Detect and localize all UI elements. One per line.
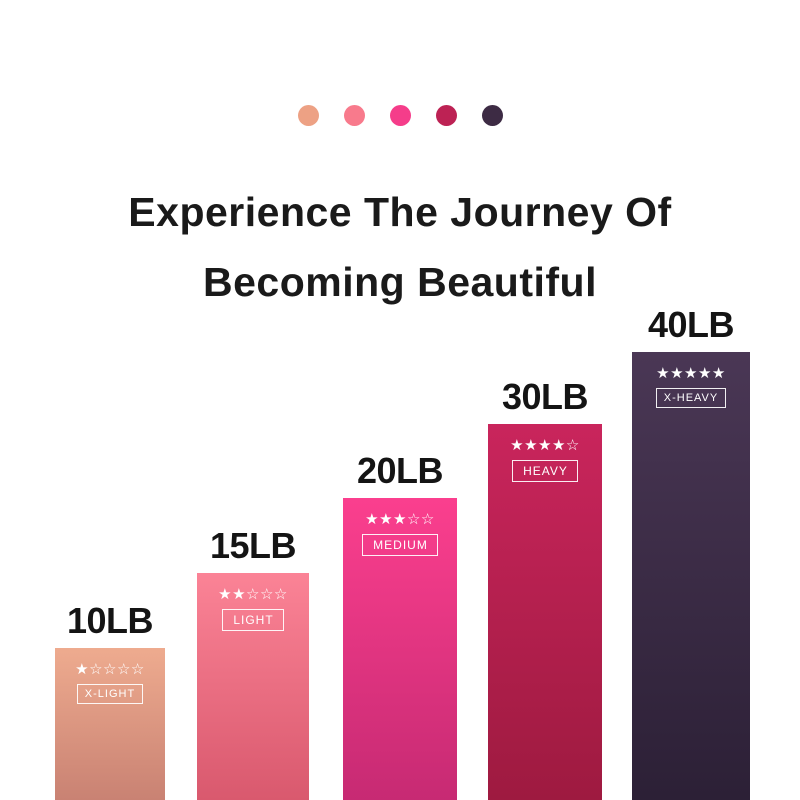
tier-badge: X-LIGHT xyxy=(77,684,143,704)
dot-row xyxy=(0,105,800,126)
bar-value-label: 30LB xyxy=(502,376,588,418)
bar-column-15lb[interactable]: 15LB★★☆☆☆LIGHT xyxy=(197,573,309,800)
headline-line-1: Experience The Journey Of xyxy=(0,177,800,247)
bar-meta: ★★★☆☆MEDIUM xyxy=(343,512,457,556)
bar-body[interactable]: ★★★★☆HEAVY xyxy=(488,424,602,800)
bar-column-30lb[interactable]: 30LB★★★★☆HEAVY xyxy=(488,424,602,800)
star-rating-icon: ★☆☆☆☆ xyxy=(75,662,145,677)
star-rating-icon: ★★☆☆☆ xyxy=(218,587,288,602)
poster-canvas: Experience The Journey Of Becoming Beaut… xyxy=(0,0,800,800)
dot-heavy-icon xyxy=(436,105,457,126)
dot-light-icon xyxy=(344,105,365,126)
bar-meta: ★★★★☆HEAVY xyxy=(488,438,602,482)
dot-x-heavy-icon xyxy=(482,105,503,126)
resistance-bar-chart: 10LB★☆☆☆☆X-LIGHT15LB★★☆☆☆LIGHT20LB★★★☆☆M… xyxy=(0,280,800,800)
bar-body[interactable]: ★★★☆☆MEDIUM xyxy=(343,498,457,800)
star-rating-icon: ★★★★☆ xyxy=(510,438,580,453)
bar-body[interactable]: ★☆☆☆☆X-LIGHT xyxy=(55,648,165,800)
dot-x-light-icon xyxy=(298,105,319,126)
bar-column-10lb[interactable]: 10LB★☆☆☆☆X-LIGHT xyxy=(55,648,165,800)
star-rating-icon: ★★★★★ xyxy=(656,366,726,381)
bar-meta: ★★★★★X-HEAVY xyxy=(632,366,750,408)
tier-badge: HEAVY xyxy=(512,460,578,482)
dot-medium-icon xyxy=(390,105,411,126)
bar-body[interactable]: ★★☆☆☆LIGHT xyxy=(197,573,309,800)
bar-body[interactable]: ★★★★★X-HEAVY xyxy=(632,352,750,800)
star-rating-icon: ★★★☆☆ xyxy=(365,512,435,527)
tier-badge: X-HEAVY xyxy=(656,388,726,408)
bar-meta: ★☆☆☆☆X-LIGHT xyxy=(55,662,165,704)
bar-column-40lb[interactable]: 40LB★★★★★X-HEAVY xyxy=(632,352,750,800)
bar-column-20lb[interactable]: 20LB★★★☆☆MEDIUM xyxy=(343,498,457,800)
tier-badge: LIGHT xyxy=(222,609,283,631)
bar-fill xyxy=(632,352,750,800)
tier-badge: MEDIUM xyxy=(362,534,438,556)
bar-value-label: 15LB xyxy=(210,525,296,567)
bar-meta: ★★☆☆☆LIGHT xyxy=(197,587,309,631)
bar-value-label: 20LB xyxy=(357,450,443,492)
bar-value-label: 10LB xyxy=(67,600,153,642)
bar-value-label: 40LB xyxy=(648,304,734,346)
